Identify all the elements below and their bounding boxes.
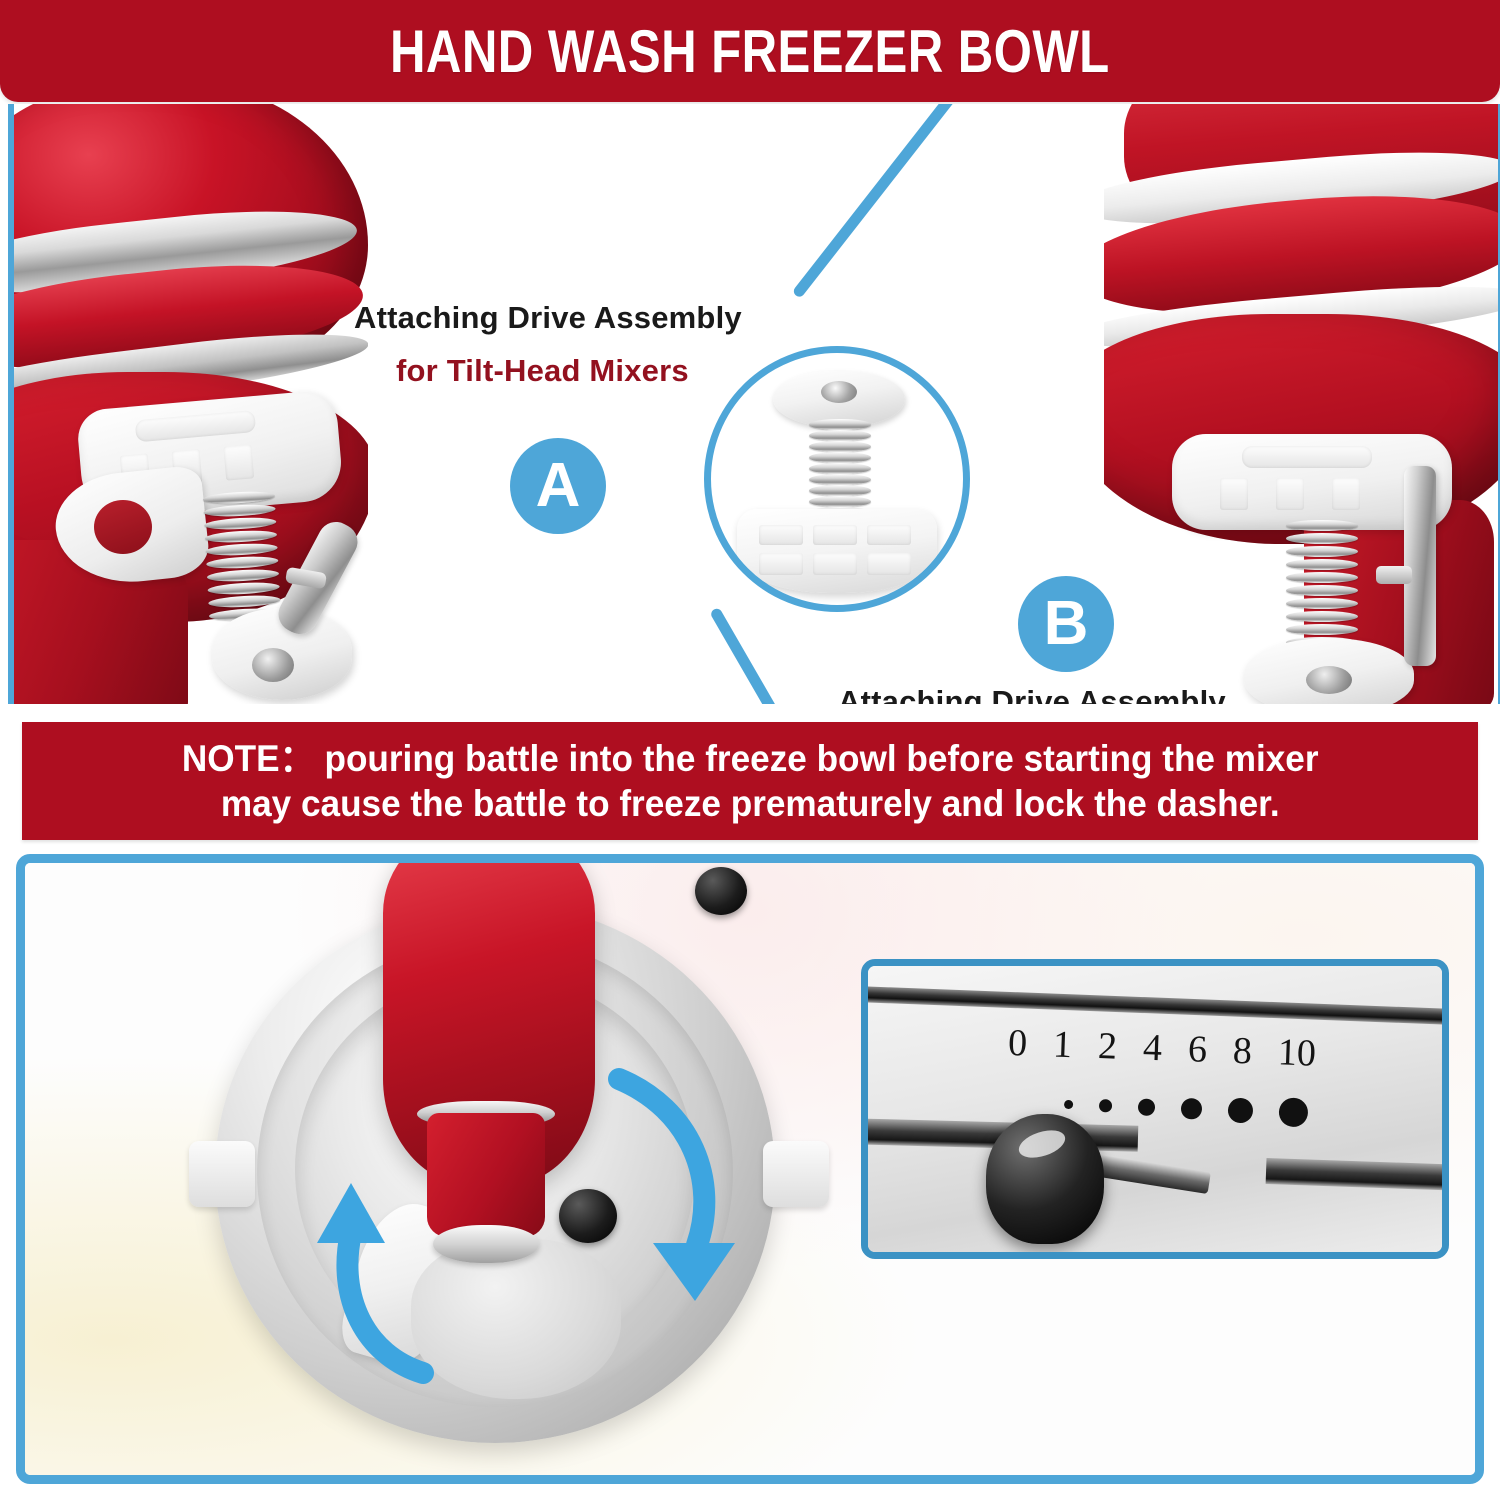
freezer-bowl-top-view (175, 873, 835, 1473)
callout-a-text: Attaching Drive Assembly for Tilt-Head M… (354, 300, 742, 389)
bowl-lift-mixer-photo (1104, 104, 1500, 704)
speed-dot-2 (1099, 1099, 1112, 1112)
callout-b-line1: Attaching Drive Assembly (838, 684, 1226, 704)
tilt-head-mixer-photo (8, 104, 368, 704)
speed-dot-0 (1018, 1103, 1038, 1104)
speed-dot-1 (1064, 1100, 1073, 1109)
speed-lever-knob (695, 867, 747, 915)
rotation-arrow-right-icon (543, 1053, 763, 1353)
callout-a-line1: Attaching Drive Assembly (354, 300, 742, 336)
speed-dot-8 (1228, 1098, 1254, 1124)
bowl-handle-left (189, 1141, 255, 1207)
badge-b: B (1018, 576, 1114, 672)
speed-dot-4 (1138, 1098, 1156, 1116)
bowl-handle-right (763, 1141, 829, 1207)
top-instruction-panel: A B Attaching Drive Assembly for Tilt-He… (8, 104, 1500, 704)
connector-line-upper (792, 104, 985, 299)
drive-assembly-closeup-circle (704, 346, 970, 612)
speed-number-4: 4 (1142, 1029, 1162, 1068)
speed-dot-10 (1278, 1097, 1308, 1127)
bottom-instruction-panel: 01246810 Start mixer on “srir” speed The… (16, 854, 1484, 1484)
speed-number-2: 2 (1097, 1027, 1117, 1066)
note-line-2: may cause the battle to freeze premature… (221, 781, 1280, 826)
note-banner: NOTE： pouring battle into the freeze bow… (22, 722, 1478, 840)
spring (203, 490, 282, 624)
rotation-arrow-left-icon (285, 1105, 505, 1405)
header-banner: HAND WASH FREEZER BOWL (0, 0, 1500, 102)
speed-dial-inset: 01246810 (861, 959, 1449, 1259)
speed-dot-6 (1181, 1098, 1203, 1120)
badge-a: A (510, 438, 606, 534)
page-title: HAND WASH FREEZER BOWL (390, 17, 1110, 86)
infographic-page: HAND WASH FREEZER BOWL (0, 0, 1500, 1500)
speed-number-8: 8 (1232, 1032, 1252, 1071)
note-line-1: NOTE： pouring battle into the freeze bow… (182, 736, 1319, 781)
speed-number-0: 0 (1007, 1024, 1027, 1063)
speed-number-6: 6 (1187, 1030, 1207, 1069)
callout-a-line2: for Tilt-Head Mixers (396, 353, 742, 389)
speed-number-1: 1 (1052, 1025, 1072, 1064)
callout-b-text: Attaching Drive Assembly for Bowl-Lift M… (838, 684, 1226, 704)
spring (809, 419, 871, 523)
speed-number-10: 10 (1277, 1033, 1316, 1072)
